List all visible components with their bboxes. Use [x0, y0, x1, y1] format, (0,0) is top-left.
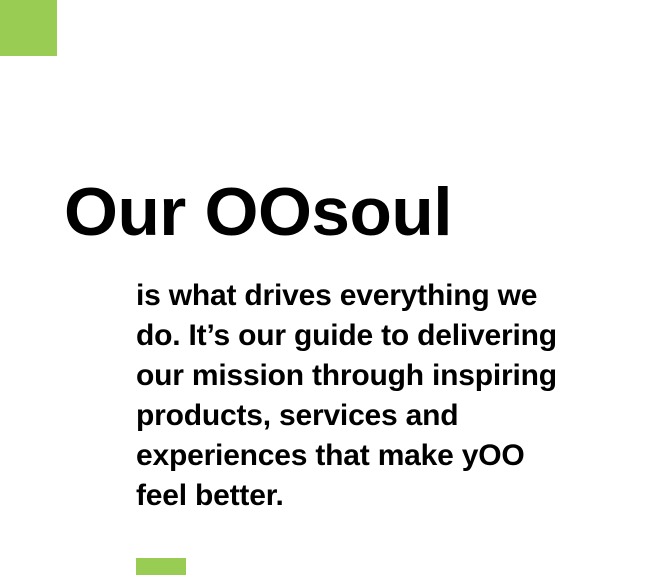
brand-statement-slide: Our OOsoul is what drives everything we …	[0, 0, 660, 575]
green-bar-decoration-icon	[136, 558, 186, 575]
paragraph-line: our mission through inspiring	[136, 356, 660, 396]
paragraph-line: feel better.	[136, 476, 660, 516]
paragraph-line: products, services and	[136, 396, 660, 436]
paragraph-line: do. It’s our guide to delivering	[136, 316, 660, 356]
page-title: Our OOsoul	[64, 178, 452, 246]
paragraph-line: experiences that make yOO	[136, 436, 660, 476]
paragraph-line: is what drives everything we	[136, 276, 660, 316]
mission-statement-paragraph: is what drives everything we do. It’s ou…	[136, 276, 660, 516]
green-square-decoration-icon	[0, 0, 57, 56]
